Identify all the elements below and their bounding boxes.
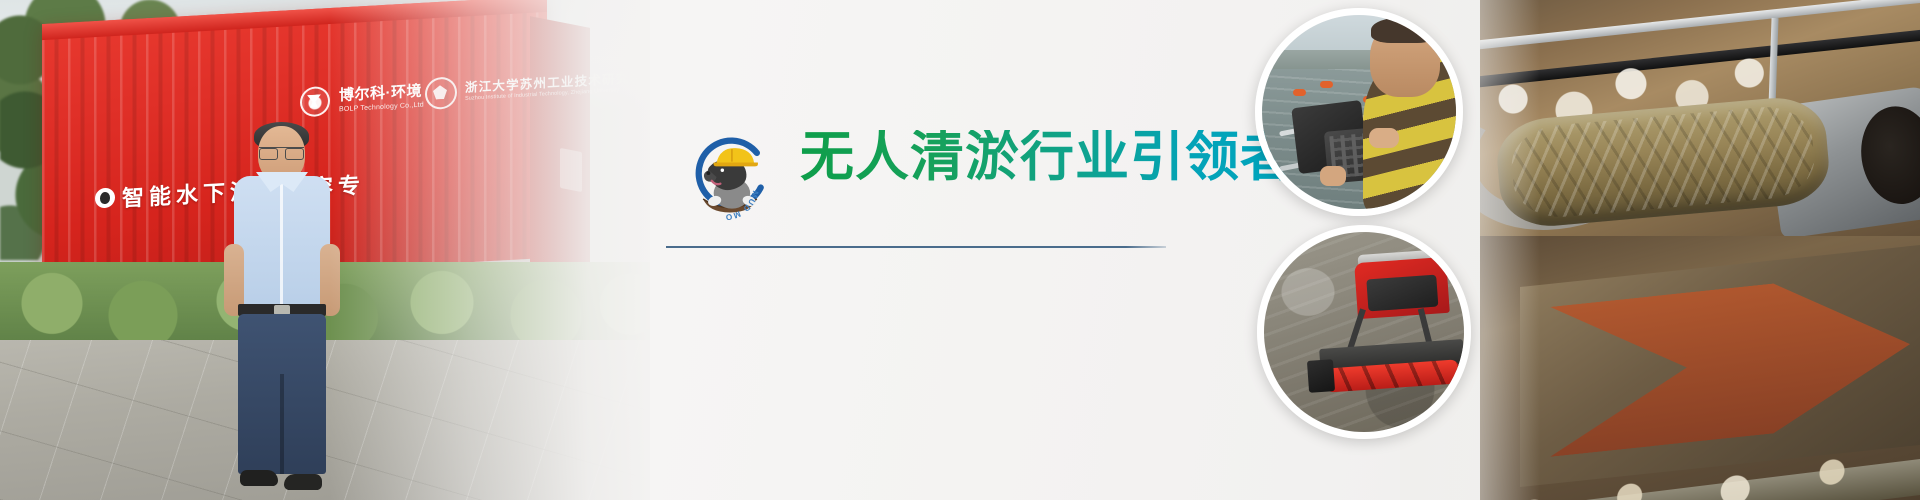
sludge-trough-photo: [1480, 236, 1920, 500]
person-shirt: [234, 176, 330, 308]
buoy-marker: [1320, 81, 1333, 88]
person-right-shoe: [284, 474, 322, 490]
robot-red-frame: [1354, 257, 1450, 319]
headline-divider: [666, 246, 1166, 248]
left-photo-fade: [330, 0, 650, 500]
bolp-mark-icon: [300, 86, 330, 118]
mud-mole-logo: MUD MOLE: [682, 128, 778, 224]
dredging-robot-photo: [1257, 225, 1471, 439]
promo-banner: 博尔科·环境 BOLP Technology Co.,Ltd 浙江大学苏州工业技…: [0, 0, 1920, 500]
mole-badge-icon: [95, 187, 115, 208]
operator-remote-control-photo: [1255, 8, 1463, 216]
person-jeans: [238, 314, 326, 474]
headline-text: 无人清淤行业引领者: [800, 130, 1295, 184]
buoy-marker: [1293, 89, 1306, 96]
operator-hair: [1371, 17, 1437, 43]
person-left-shoe: [240, 470, 278, 486]
eyeglasses-icon: [259, 147, 304, 158]
left-photo: 博尔科·环境 BOLP Technology Co.,Ltd 浙江大学苏州工业技…: [0, 0, 650, 500]
pipe-discharge-scene: [1480, 0, 1920, 250]
robot-auger-motor: [1307, 359, 1335, 393]
center-content: MUD MOLE 无人清淤行业引领者: [660, 0, 1280, 500]
operator-left-hand: [1320, 166, 1346, 186]
operator-right-hand: [1369, 128, 1399, 148]
sludge-discharge-photo: [1480, 0, 1920, 500]
person-photo: [222, 126, 342, 500]
